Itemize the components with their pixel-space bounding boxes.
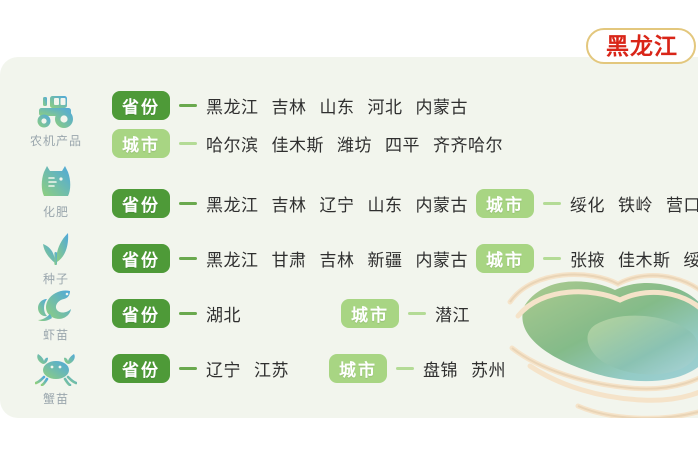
city-group: 城市 潜江 [341, 299, 470, 328]
value: 辽宁 [206, 361, 241, 380]
city-tag[interactable]: 城市 [112, 129, 170, 158]
value: 营口 [666, 196, 698, 215]
value: 辽宁 [320, 196, 355, 215]
city-values: 盘锦苏州 [423, 356, 506, 381]
value: 黑龙江 [206, 196, 259, 215]
value: 内蒙古 [416, 251, 469, 270]
connector-dash [179, 104, 197, 107]
crab-icon [12, 347, 100, 391]
category-item-tractor[interactable]: 农机产品 [12, 89, 100, 148]
value: 内蒙古 [416, 98, 469, 117]
category-label: 虾苗 [12, 329, 100, 342]
value: 绥化 [570, 196, 605, 215]
highlighted-province-badge[interactable]: 黑龙江 [586, 28, 696, 64]
seedling-icon [12, 227, 100, 271]
city-values: 绥化铁岭营口 [570, 191, 698, 216]
table-row: 省份 湖北 城市 潜江 [112, 298, 470, 328]
province-values: 辽宁江苏 [206, 356, 289, 381]
value: 山东 [320, 98, 355, 117]
province-tag[interactable]: 省份 [112, 354, 170, 383]
category-item-crab[interactable]: 蟹苗 [12, 347, 100, 406]
province-values: 黑龙江吉林山东河北内蒙古 [206, 93, 468, 118]
category-label: 农机产品 [12, 135, 100, 148]
value: 四平 [385, 136, 420, 155]
value: 佳木斯 [272, 136, 325, 155]
value: 河北 [368, 98, 403, 117]
city-values: 哈尔滨佳木斯潍坊四平齐齐哈尔 [206, 131, 503, 156]
table-row: 城市 哈尔滨佳木斯潍坊四平齐齐哈尔 [112, 128, 503, 158]
connector-dash [396, 367, 414, 370]
fertilizer-bag-icon [12, 160, 100, 204]
value: 吉林 [320, 251, 355, 270]
value: 绥 [684, 251, 698, 270]
value: 内蒙古 [416, 196, 469, 215]
value: 黑龙江 [206, 98, 259, 117]
city-values: 张掖佳木斯绥 [570, 246, 698, 271]
category-item-fertilizer[interactable]: 化肥 [12, 160, 100, 219]
table-row: 省份 黑龙江甘肃吉林新疆内蒙古 城市 张掖佳木斯绥 [112, 243, 698, 273]
value: 哈尔滨 [206, 136, 259, 155]
value: 潍坊 [337, 136, 372, 155]
value: 佳木斯 [618, 251, 671, 270]
province-values: 黑龙江吉林辽宁山东内蒙古 [206, 191, 468, 216]
value: 齐齐哈尔 [433, 136, 503, 155]
table-row: 省份 黑龙江吉林辽宁山东内蒙古 城市 绥化铁岭营口 [112, 188, 698, 218]
connector-dash [543, 202, 561, 205]
province-tag[interactable]: 省份 [112, 244, 170, 273]
province-values: 黑龙江甘肃吉林新疆内蒙古 [206, 246, 468, 271]
city-tag[interactable]: 城市 [341, 299, 399, 328]
value: 甘肃 [272, 251, 307, 270]
city-values: 潜江 [435, 301, 470, 326]
main-panel: 农机产品 化肥 [0, 57, 698, 418]
connector-dash [179, 202, 197, 205]
connector-dash [179, 367, 197, 370]
category-label: 化肥 [12, 206, 100, 219]
city-tag[interactable]: 城市 [476, 189, 534, 218]
table-row: 省份 黑龙江吉林山东河北内蒙古 [112, 90, 468, 120]
highlighted-province-label: 黑龙江 [606, 35, 678, 58]
city-group: 城市 盘锦苏州 [329, 354, 506, 383]
connector-dash [408, 312, 426, 315]
connector-dash [543, 257, 561, 260]
value: 江苏 [254, 361, 289, 380]
category-label: 蟹苗 [12, 393, 100, 406]
value: 吉林 [272, 98, 307, 117]
connector-dash [179, 257, 197, 260]
province-tag[interactable]: 省份 [112, 91, 170, 120]
city-tag[interactable]: 城市 [329, 354, 387, 383]
shrimp-icon [12, 283, 100, 327]
category-item-seed[interactable]: 种子 [12, 227, 100, 286]
table-row: 省份 辽宁江苏 城市 盘锦苏州 [112, 353, 506, 383]
tractor-icon [12, 89, 100, 133]
city-tag[interactable]: 城市 [476, 244, 534, 273]
value: 吉林 [272, 196, 307, 215]
value: 新疆 [368, 251, 403, 270]
province-tag[interactable]: 省份 [112, 189, 170, 218]
city-group: 城市 张掖佳木斯绥 [476, 244, 698, 273]
value: 张掖 [570, 251, 605, 270]
value: 苏州 [471, 361, 506, 380]
connector-dash [179, 312, 197, 315]
value: 盘锦 [423, 361, 458, 380]
value: 铁岭 [618, 196, 653, 215]
value: 潜江 [435, 306, 470, 325]
connector-dash [179, 142, 197, 145]
category-item-shrimp[interactable]: 虾苗 [12, 283, 100, 342]
value: 山东 [368, 196, 403, 215]
category-icon-rail: 农机产品 化肥 [0, 57, 112, 418]
province-tag[interactable]: 省份 [112, 299, 170, 328]
value: 黑龙江 [206, 251, 259, 270]
value: 湖北 [206, 306, 241, 325]
province-values: 湖北 [206, 301, 241, 326]
city-group: 城市 绥化铁岭营口 [476, 189, 698, 218]
